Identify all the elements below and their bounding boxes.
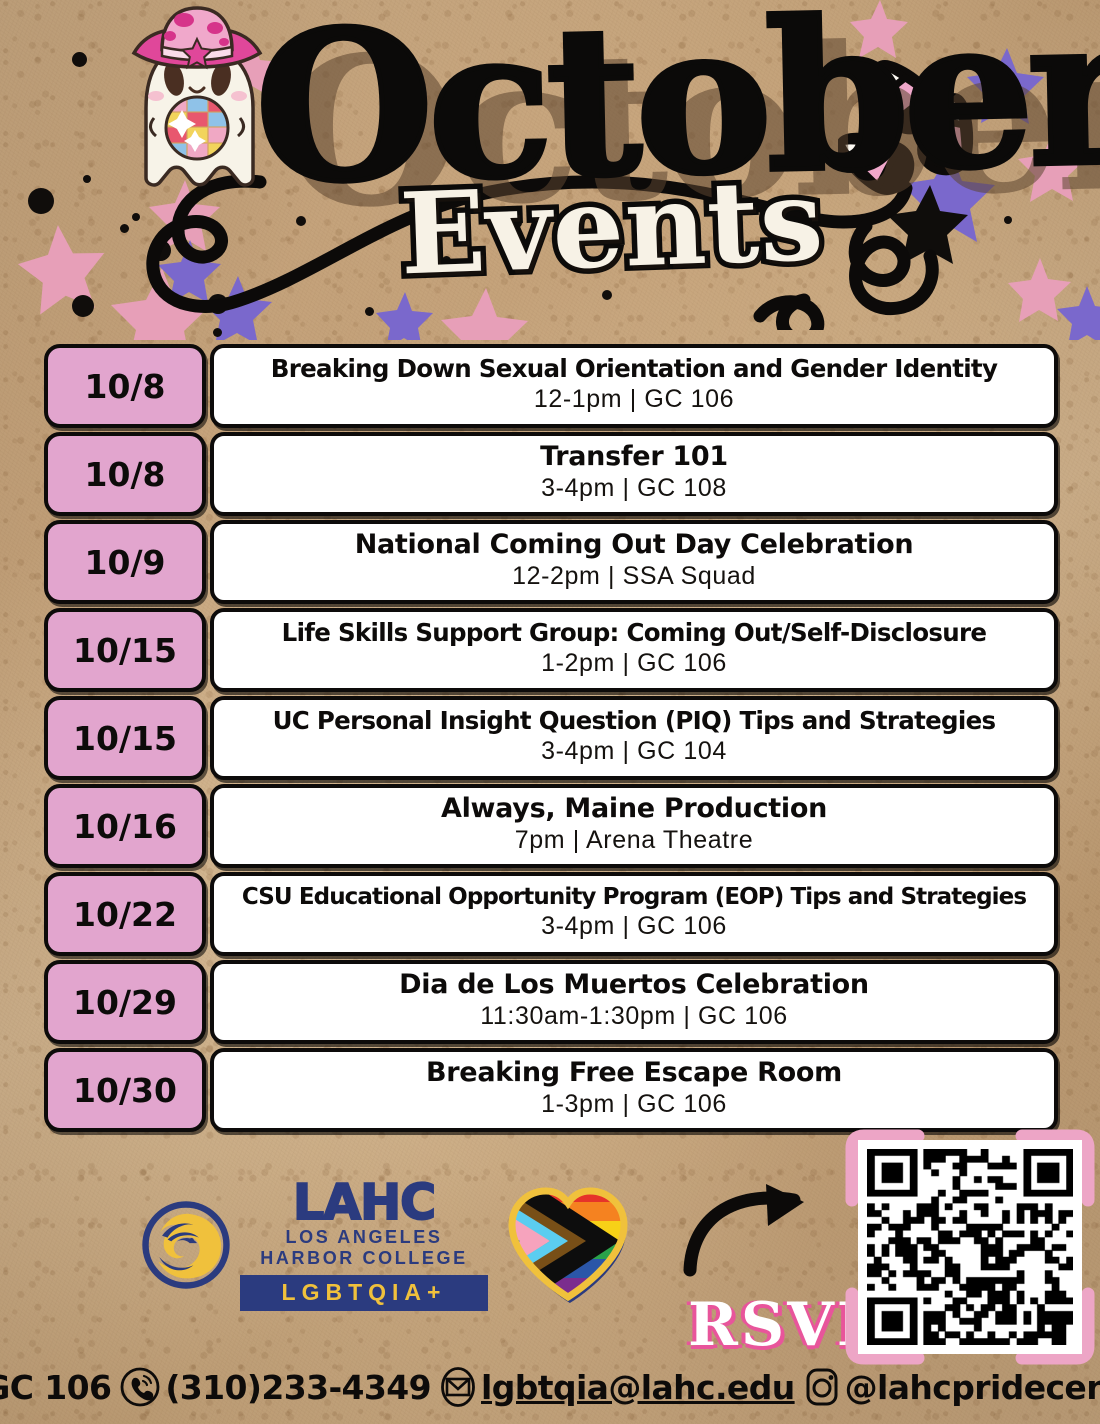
- contact-phone-text[interactable]: (310)233-4349: [165, 1368, 431, 1407]
- events-schedule-list: 10/8 Breaking Down Sexual Orientation an…: [44, 344, 1058, 1136]
- event-meta: 3-4pm | GC 104: [541, 737, 727, 766]
- event-date-badge: 10/15: [44, 696, 206, 780]
- lahc-acronym: LAHC: [293, 1180, 435, 1227]
- confetti-dot: [28, 188, 54, 214]
- event-date-badge: 10/15: [44, 608, 206, 692]
- poster-header: October Events: [0, 0, 1100, 330]
- event-title: National Coming Out Day Celebration: [355, 531, 914, 560]
- contact-instagram-text[interactable]: @lahcpridecenter: [845, 1368, 1100, 1407]
- confetti-dot: [72, 52, 87, 67]
- phone-icon: [120, 1367, 160, 1407]
- lahc-name-line1: LOS ANGELES: [286, 1227, 443, 1249]
- event-meta: 12-1pm | GC 106: [534, 385, 734, 414]
- event-date-badge: 10/30: [44, 1048, 206, 1132]
- contact-strip: GC 106 (310)233-4349 lgbtqia@lahc.edu @l…: [0, 1364, 1100, 1410]
- instagram-icon: [804, 1366, 840, 1408]
- contact-instagram: @lahcpridecenter: [804, 1366, 1100, 1408]
- qr-canvas: [867, 1149, 1073, 1345]
- contact-email: lgbtqia@lahc.edu: [440, 1366, 795, 1408]
- event-meta: 11:30am-1:30pm | GC 106: [480, 1002, 788, 1031]
- event-card[interactable]: Breaking Down Sexual Orientation and Gen…: [210, 344, 1058, 428]
- event-title: Life Skills Support Group: Coming Out/Se…: [282, 620, 987, 646]
- event-row[interactable]: 10/22 CSU Educational Opportunity Progra…: [44, 872, 1058, 956]
- event-date-badge: 10/29: [44, 960, 206, 1044]
- contact-phone: (310)233-4349: [120, 1367, 431, 1407]
- curved-arrow-icon: [682, 1178, 832, 1278]
- event-title: Transfer 101: [540, 443, 728, 472]
- footer-logos: LAHC LOS ANGELES HARBOR COLLEGE LGBTQIA+: [140, 1180, 634, 1311]
- lgbtqia-program-bar: LGBTQIA+: [240, 1275, 488, 1311]
- rsvp-qr-code[interactable]: [858, 1140, 1082, 1354]
- event-meta: 1-2pm | GC 106: [541, 649, 727, 678]
- event-card[interactable]: Dia de Los Muertos Celebration 11:30am-1…: [210, 960, 1058, 1044]
- event-card[interactable]: Transfer 101 3-4pm | GC 108: [210, 432, 1058, 516]
- event-meta: 3-4pm | GC 108: [541, 474, 727, 503]
- event-date-badge: 10/16: [44, 784, 206, 868]
- event-card[interactable]: Breaking Free Escape Room 1-3pm | GC 106: [210, 1048, 1058, 1132]
- event-row[interactable]: 10/9 National Coming Out Day Celebration…: [44, 520, 1058, 604]
- eagle-mascot-icon: [140, 1199, 232, 1291]
- event-title: Dia de Los Muertos Celebration: [399, 971, 869, 1000]
- event-row[interactable]: 10/15 Life Skills Support Group: Coming …: [44, 608, 1058, 692]
- progress-pride-heart-icon: [502, 1183, 634, 1307]
- event-card[interactable]: National Coming Out Day Celebration 12-2…: [210, 520, 1058, 604]
- event-title: Always, Maine Production: [441, 795, 827, 824]
- email-icon: [440, 1366, 476, 1408]
- lahc-name-line2: HARBOR COLLEGE: [260, 1248, 467, 1270]
- event-row[interactable]: 10/29 Dia de Los Muertos Celebration 11:…: [44, 960, 1058, 1044]
- event-card[interactable]: CSU Educational Opportunity Program (EOP…: [210, 872, 1058, 956]
- contact-room-text: GC 106: [0, 1368, 111, 1407]
- contact-email-text[interactable]: lgbtqia@lahc.edu: [481, 1368, 795, 1407]
- lgbtqia-label: LGBTQIA+: [282, 1279, 447, 1306]
- event-date-badge: 10/8: [44, 432, 206, 516]
- event-title: CSU Educational Opportunity Program (EOP…: [242, 885, 1026, 909]
- event-row[interactable]: 10/15 UC Personal Insight Question (PIQ)…: [44, 696, 1058, 780]
- event-meta: 7pm | Arena Theatre: [515, 826, 753, 855]
- event-card[interactable]: Life Skills Support Group: Coming Out/Se…: [210, 608, 1058, 692]
- event-card[interactable]: UC Personal Insight Question (PIQ) Tips …: [210, 696, 1058, 780]
- lahc-wordmark: LAHC LOS ANGELES HARBOR COLLEGE LGBTQIA+: [240, 1180, 488, 1311]
- event-card[interactable]: Always, Maine Production 7pm | Arena The…: [210, 784, 1058, 868]
- event-meta: 1-3pm | GC 106: [541, 1090, 727, 1119]
- poster-title-events: Events: [398, 165, 826, 292]
- event-date-badge: 10/9: [44, 520, 206, 604]
- event-meta: 3-4pm | GC 106: [541, 912, 727, 941]
- event-date-badge: 10/22: [44, 872, 206, 956]
- event-meta: 12-2pm | SSA Squad: [512, 562, 756, 591]
- event-date-badge: 10/8: [44, 344, 206, 428]
- lahc-logo: LAHC LOS ANGELES HARBOR COLLEGE LGBTQIA+: [140, 1180, 488, 1311]
- event-title: UC Personal Insight Question (PIQ) Tips …: [273, 708, 996, 734]
- event-row[interactable]: 10/30 Breaking Free Escape Room 1-3pm | …: [44, 1048, 1058, 1132]
- event-title: Breaking Free Escape Room: [426, 1059, 842, 1088]
- event-row[interactable]: 10/16 Always, Maine Production 7pm | Are…: [44, 784, 1058, 868]
- event-title: Breaking Down Sexual Orientation and Gen…: [271, 356, 997, 382]
- contact-room: GC 106: [0, 1364, 111, 1410]
- event-row[interactable]: 10/8 Breaking Down Sexual Orientation an…: [44, 344, 1058, 428]
- event-row[interactable]: 10/8 Transfer 101 3-4pm | GC 108: [44, 432, 1058, 516]
